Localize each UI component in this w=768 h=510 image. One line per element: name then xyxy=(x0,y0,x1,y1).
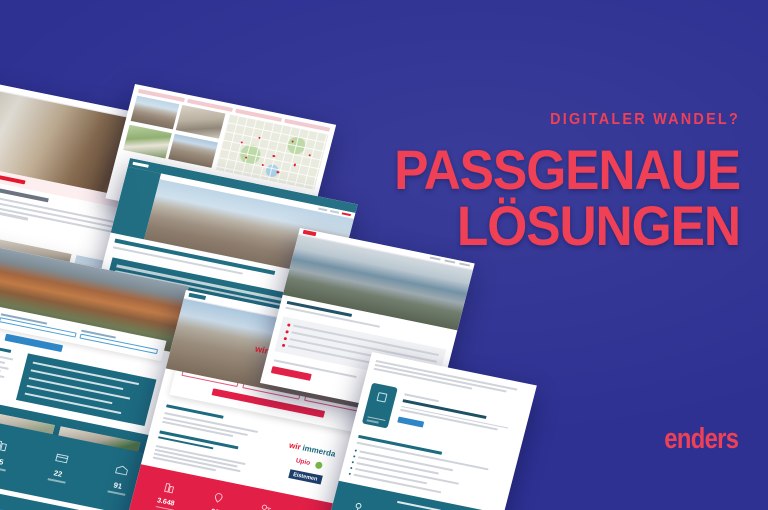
partner-logo-upio: Upio xyxy=(295,457,311,467)
building-icon xyxy=(0,438,10,453)
app-download-button[interactable] xyxy=(397,417,424,428)
brand-logo-enders: enders xyxy=(664,425,738,454)
site-logo-icon xyxy=(132,162,149,168)
key-icon xyxy=(259,501,275,510)
pin-icon xyxy=(211,491,227,504)
intro-text xyxy=(153,404,266,478)
logo-wir-immerda: wir immerda xyxy=(288,442,336,459)
gallery-card-bicycle[interactable] xyxy=(0,504,53,510)
person-icon xyxy=(348,501,366,510)
hero-banner-stage: 241 245 22 xyxy=(0,0,768,510)
result-thumb[interactable] xyxy=(169,134,218,168)
phone-mockup xyxy=(362,383,398,429)
shop-icon xyxy=(53,450,71,465)
headline-line-1: PASSGENAUE xyxy=(354,144,740,196)
stat-value: 245 xyxy=(0,455,8,468)
stat-item: 22 xyxy=(47,449,73,483)
partner-mark-icon xyxy=(314,461,323,469)
building-icon xyxy=(162,481,178,494)
garage-icon xyxy=(113,462,131,477)
headline-line-2: LÖSUNGEN xyxy=(354,200,740,252)
stat-item: 26 xyxy=(205,489,228,510)
stat-item: 91 xyxy=(107,461,133,495)
stat-item: 245 xyxy=(0,436,13,471)
stat-item: 3.648 xyxy=(155,479,180,510)
result-thumb[interactable] xyxy=(123,125,172,159)
stat-item: 28 xyxy=(253,498,276,510)
site-logo-icon xyxy=(189,293,207,300)
hero-copy-block: DIGITALER WANDEL? PASSGENAUE LÖSUNGEN xyxy=(320,112,740,252)
partner-logo-eistemen: Eistemen xyxy=(288,469,322,484)
eyebrow-text: DIGITALER WANDEL? xyxy=(349,112,740,128)
site-logo-icon xyxy=(303,230,317,236)
